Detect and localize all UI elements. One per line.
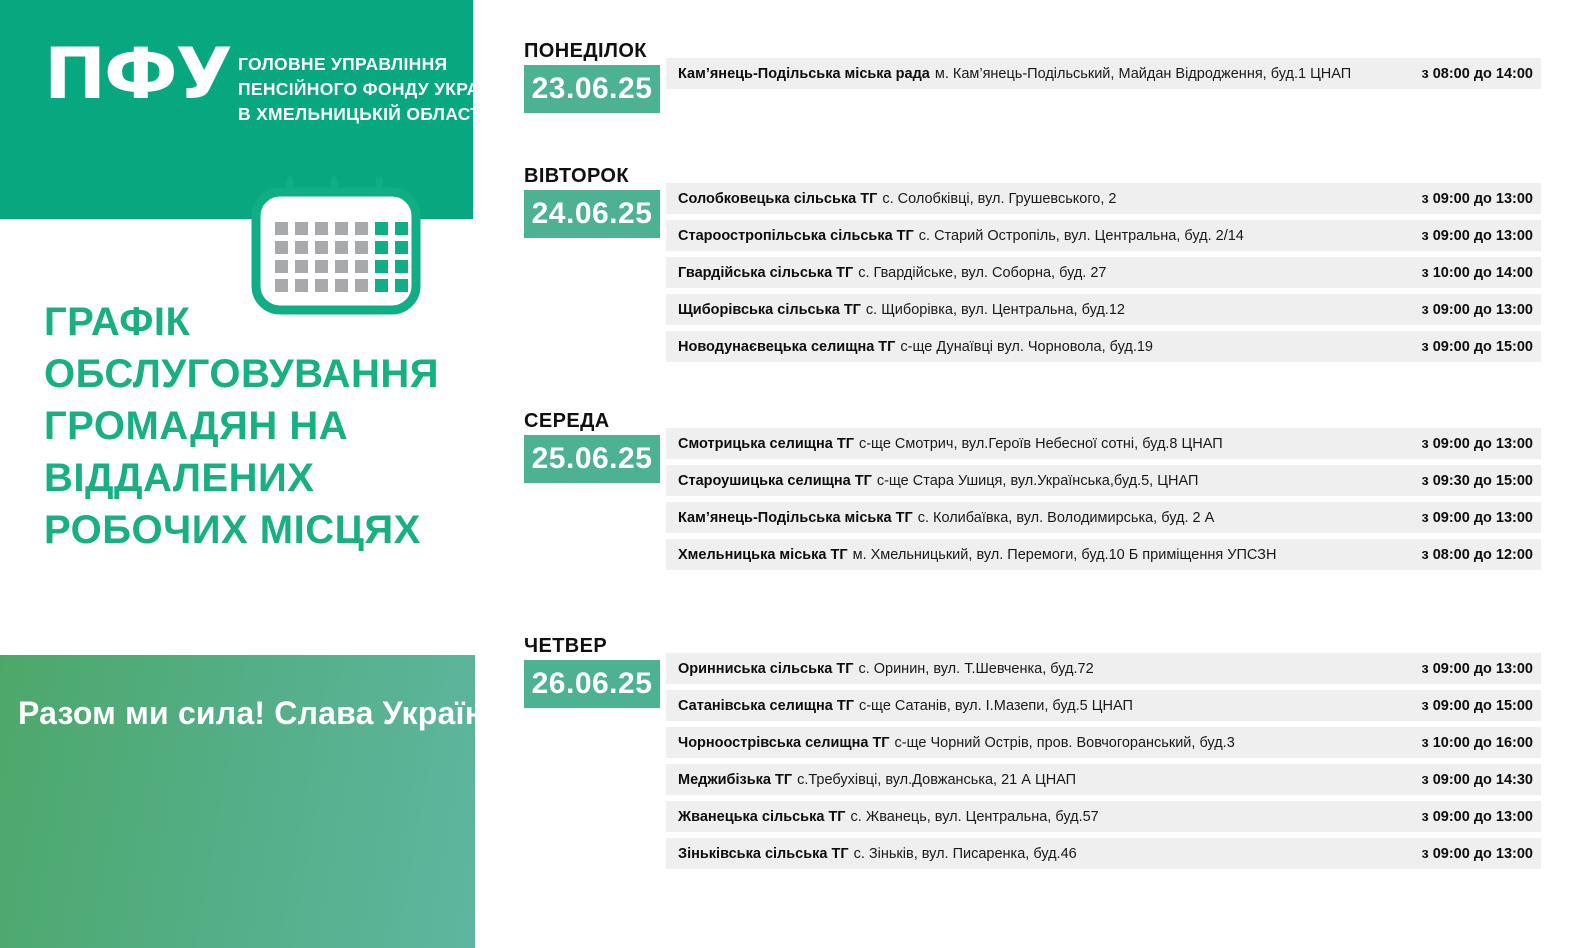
organisation-address: с-ще Стара Ушиця, вул.Українська,буд.5, … bbox=[877, 473, 1408, 489]
logo-line-2: ПЕНСІЙНОГО ФОНДУ УКРАЇНИ bbox=[238, 77, 511, 102]
working-hours: з 09:00 до 13:00 bbox=[1407, 809, 1533, 825]
organisation-address: с. Гвардійське, вул. Соборна, буд. 27 bbox=[858, 265, 1407, 281]
schedule-row: Смотрицька селищна ТГс-ще Смотрич, вул.Г… bbox=[666, 428, 1541, 459]
calendar-icon bbox=[248, 176, 424, 316]
weekday-label: СЕРЕДА bbox=[524, 410, 610, 433]
schedule-row: Чорноострівська селищна ТГс-ще Чорний Ос… bbox=[666, 727, 1541, 758]
page-title: ГРАФІК ОБСЛУГОВУВАННЯ ГРОМАДЯН НА ВІДДАЛ… bbox=[44, 296, 454, 556]
organisation-address: с.Требухівці, вул.Довжанська, 21 А ЦНАП bbox=[797, 772, 1407, 788]
pfu-logo: ПФУ ГОЛОВНЕ УПРАВЛІННЯ ПЕНСІЙНОГО ФОНДУ … bbox=[44, 42, 511, 127]
organisation-name: Новодунаєвецька селищна ТГ bbox=[678, 339, 895, 355]
working-hours: з 10:00 до 14:00 bbox=[1407, 265, 1533, 281]
schedule-row: Хмельницька міська ТГм. Хмельницький, ву… bbox=[666, 539, 1541, 570]
working-hours: з 09:00 до 13:00 bbox=[1407, 302, 1533, 318]
organisation-name: Жванецька сільська ТГ bbox=[678, 809, 846, 825]
organisation-name: Сатанівська селищна ТГ bbox=[678, 698, 854, 714]
slogan-text: Разом ми сила! Слава Україні! bbox=[18, 695, 458, 732]
date-badge: 24.06.25 bbox=[524, 190, 660, 238]
working-hours: з 08:00 до 12:00 bbox=[1407, 547, 1533, 563]
organisation-name: Солобковецька сільська ТГ bbox=[678, 191, 877, 207]
organisation-address: с. Колибаївка, вул. Володимирська, буд. … bbox=[918, 510, 1408, 526]
organisation-address: м. Хмельницький, вул. Перемоги, буд.10 Б… bbox=[853, 547, 1408, 563]
logo-line-1: ГОЛОВНЕ УПРАВЛІННЯ bbox=[238, 52, 511, 77]
organisation-name: Хмельницька міська ТГ bbox=[678, 547, 848, 563]
poster-canvas: ПФУ ГОЛОВНЕ УПРАВЛІННЯ ПЕНСІЙНОГО ФОНДУ … bbox=[0, 0, 1588, 948]
organisation-address: с. Зіньків, вул. Писаренка, буд.46 bbox=[854, 846, 1408, 862]
working-hours: з 09:00 до 15:00 bbox=[1407, 339, 1533, 355]
weekday-label: ПОНЕДІЛОК bbox=[524, 40, 647, 63]
organisation-name: Чорноострівська селищна ТГ bbox=[678, 735, 890, 751]
working-hours: з 09:00 до 14:30 bbox=[1407, 772, 1533, 788]
organisation-name: Гвардійська сільська ТГ bbox=[678, 265, 853, 281]
organisation-name: Кам’янець-Подільська міська рада bbox=[678, 66, 930, 82]
schedule-row: Староушицька селищна ТГс-ще Стара Ушиця,… bbox=[666, 465, 1541, 496]
working-hours: з 09:30 до 15:00 bbox=[1407, 473, 1533, 489]
organisation-name: Зіньківська сільська ТГ bbox=[678, 846, 849, 862]
date-badge: 25.06.25 bbox=[524, 435, 660, 483]
working-hours: з 09:00 до 13:00 bbox=[1407, 436, 1533, 452]
working-hours: з 09:00 до 13:00 bbox=[1407, 228, 1533, 244]
organisation-address: с. Жванець, вул. Центральна, буд.57 bbox=[851, 809, 1408, 825]
schedule-row: Новодунаєвецька селищна ТГс-ще Дунаївці … bbox=[666, 331, 1541, 362]
organisation-name: Меджибізька ТГ bbox=[678, 772, 792, 788]
weekday-label: ВІВТОРОК bbox=[524, 165, 629, 188]
working-hours: з 10:00 до 16:00 bbox=[1407, 735, 1533, 751]
schedule-row: Кам’янець-Подільська міська ТГс. Колибаї… bbox=[666, 502, 1541, 533]
organisation-name: Оринниська сільська ТГ bbox=[678, 661, 853, 677]
organisation-name: Смотрицька селищна ТГ bbox=[678, 436, 854, 452]
organisation-name: Староушицька селищна ТГ bbox=[678, 473, 872, 489]
date-badge: 26.06.25 bbox=[524, 660, 660, 708]
schedule-row: Меджибізька ТГс.Требухівці, вул.Довжансь… bbox=[666, 764, 1541, 795]
working-hours: з 09:00 до 13:00 bbox=[1407, 846, 1533, 862]
organisation-address: с-ще Дунаївці вул. Чорновола, буд.19 bbox=[900, 339, 1407, 355]
organisation-address: с. Солобківці, вул. Грушевського, 2 bbox=[882, 191, 1407, 207]
working-hours: з 09:00 до 13:00 bbox=[1407, 191, 1533, 207]
date-badge: 23.06.25 bbox=[524, 65, 660, 113]
schedule-row: Сатанівська селищна ТГс-ще Сатанів, вул.… bbox=[666, 690, 1541, 721]
working-hours: з 09:00 до 13:00 bbox=[1407, 510, 1533, 526]
organisation-address: с-ще Чорний Острів, пров. Вовчогоранськи… bbox=[895, 735, 1408, 751]
schedule-row: Жванецька сільська ТГс. Жванець, вул. Це… bbox=[666, 801, 1541, 832]
schedule-list: ПОНЕДІЛОК23.06.25Кам’янець-Подільська мі… bbox=[510, 0, 1588, 948]
entry-rows: Солобковецька сільська ТГс. Солобківці, … bbox=[666, 183, 1541, 368]
working-hours: з 08:00 до 14:00 bbox=[1407, 66, 1533, 82]
schedule-row: Староостропільська сільська ТГс. Старий … bbox=[666, 220, 1541, 251]
pfu-logo-subtitle: ГОЛОВНЕ УПРАВЛІННЯ ПЕНСІЙНОГО ФОНДУ УКРА… bbox=[238, 52, 511, 127]
organisation-address: с-ще Сатанів, вул. І.Мазепи, буд.5 ЦНАП bbox=[859, 698, 1408, 714]
organisation-address: с. Щиборівка, вул. Центральна, буд.12 bbox=[866, 302, 1408, 318]
schedule-row: Зіньківська сільська ТГс. Зіньків, вул. … bbox=[666, 838, 1541, 869]
working-hours: з 09:00 до 13:00 bbox=[1407, 661, 1533, 677]
weekday-label: ЧЕТВЕР bbox=[524, 635, 607, 658]
organisation-name: Староостропільська сільська ТГ bbox=[678, 228, 914, 244]
schedule-row: Кам’янець-Подільська міська радам. Кам’я… bbox=[666, 58, 1541, 89]
schedule-row: Солобковецька сільська ТГс. Солобківці, … bbox=[666, 183, 1541, 214]
organisation-address: с. Оринин, вул. Т.Шевченка, буд.72 bbox=[858, 661, 1407, 677]
schedule-row: Гвардійська сільська ТГс. Гвардійське, в… bbox=[666, 257, 1541, 288]
entry-rows: Смотрицька селищна ТГс-ще Смотрич, вул.Г… bbox=[666, 428, 1541, 576]
organisation-name: Щиборівська сільська ТГ bbox=[678, 302, 861, 318]
organisation-name: Кам’янець-Подільська міська ТГ bbox=[678, 510, 913, 526]
pfu-logo-mark: ПФУ bbox=[44, 42, 231, 106]
slogan-band: Разом ми сила! Слава Україні! bbox=[0, 655, 475, 948]
organisation-address: м. Кам’янець-Подільський, Майдан Відродж… bbox=[935, 66, 1408, 82]
working-hours: з 09:00 до 15:00 bbox=[1407, 698, 1533, 714]
schedule-row: Оринниська сільська ТГс. Оринин, вул. Т.… bbox=[666, 653, 1541, 684]
schedule-row: Щиборівська сільська ТГс. Щиборівка, вул… bbox=[666, 294, 1541, 325]
entry-rows: Кам’янець-Подільська міська радам. Кам’я… bbox=[666, 58, 1541, 95]
organisation-address: с. Старий Остропіль, вул. Центральна, бу… bbox=[919, 228, 1408, 244]
logo-line-3: В ХМЕЛЬНИЦЬКІЙ ОБЛАСТІ bbox=[238, 102, 511, 127]
organisation-address: с-ще Смотрич, вул.Героїв Небесної сотні,… bbox=[859, 436, 1408, 452]
entry-rows: Оринниська сільська ТГс. Оринин, вул. Т.… bbox=[666, 653, 1541, 875]
